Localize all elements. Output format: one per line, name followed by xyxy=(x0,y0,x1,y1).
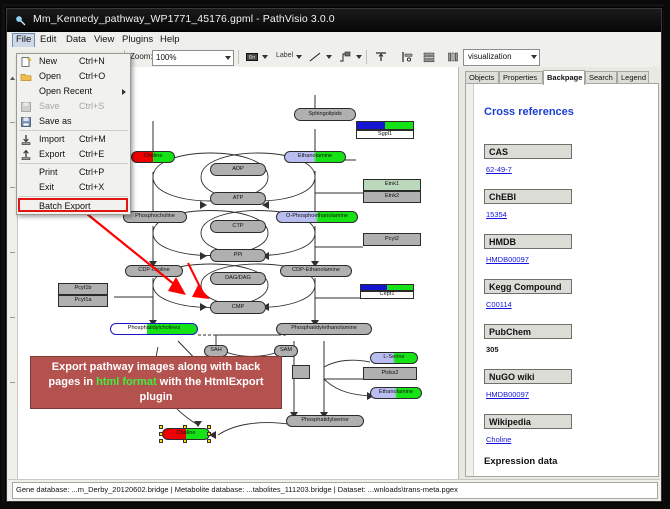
xref-value-wikipedia[interactable]: Choline xyxy=(486,435,511,444)
zoom-combobox[interactable]: 100% xyxy=(152,50,234,66)
menu-item-print-label: Print xyxy=(39,167,58,177)
menu-view[interactable]: View xyxy=(90,33,118,46)
pathvisio-app-icon xyxy=(15,14,27,26)
xref-header-kegg-compound: Kegg Compound xyxy=(484,279,572,294)
backpage-inner: Cross references CAS 62-49-7 ChEBI 15354… xyxy=(475,84,658,476)
menu-item-save-as-label: Save as xyxy=(39,116,72,126)
menu-item-import[interactable]: Import Ctrl+M xyxy=(17,132,130,147)
menu-item-exit-label: Exit xyxy=(39,182,54,192)
backpage-content: Cross references CAS 62-49-7 ChEBI 15354… xyxy=(465,83,659,477)
new-document-icon xyxy=(20,55,32,67)
xref-header-cas: CAS xyxy=(484,144,572,159)
menu-separator-1 xyxy=(19,130,128,131)
chevron-down-icon xyxy=(225,56,231,60)
zoom-value: 100% xyxy=(156,53,176,62)
callout-text-after: with the HtmlExport plugin xyxy=(140,376,264,403)
menu-item-export-label: Export xyxy=(39,149,65,159)
save-as-icon xyxy=(20,115,32,127)
menu-help[interactable]: Help xyxy=(156,33,184,46)
xref-value-cas[interactable]: 62-49-7 xyxy=(486,165,512,174)
interaction-dropdown-arrow[interactable] xyxy=(356,55,362,59)
side-panel: Objects Properties Backpage Search Legen… xyxy=(459,67,660,479)
chevron-right-icon xyxy=(122,89,126,95)
open-folder-icon xyxy=(20,70,32,82)
xref-header-nugo-wiki: NuGO wiki xyxy=(484,369,572,384)
menu-separator-3 xyxy=(19,196,128,197)
pathway-anchor-box[interactable] xyxy=(292,365,310,379)
cross-references-title: Cross references xyxy=(484,106,574,118)
toolbar-separator-2 xyxy=(238,50,239,64)
file-menu-dropdown: New Ctrl+N Open Ctrl+O Open Recent Save … xyxy=(16,53,131,215)
align-top-icon[interactable] xyxy=(374,50,388,64)
menu-item-save-label: Save xyxy=(39,101,60,111)
visualization-value: visualization xyxy=(468,52,512,61)
menu-item-open-accel: Ctrl+O xyxy=(79,71,105,81)
svg-text:Gn: Gn xyxy=(249,55,256,61)
menu-item-print-accel: Ctrl+P xyxy=(79,167,104,177)
menu-item-save: Save Ctrl+S xyxy=(17,99,130,114)
callout-highlight-text: html format xyxy=(96,376,157,388)
xref-value-pubchem: 305 xyxy=(486,345,499,354)
annotation-callout: Export pathway images along with back pa… xyxy=(30,356,282,409)
xref-header-pubchem: PubChem xyxy=(484,324,572,339)
toolbar-separator-3 xyxy=(366,50,367,64)
expression-data-title: Expression data xyxy=(484,456,557,467)
menu-bar: File Edit Data View Plugins Help xyxy=(8,32,660,48)
export-icon xyxy=(20,148,32,160)
tab-backpage[interactable]: Backpage xyxy=(543,70,585,85)
backpage-scrollbar[interactable] xyxy=(466,84,474,476)
menu-item-new[interactable]: New Ctrl+N xyxy=(17,54,130,69)
line-dropdown-arrow[interactable] xyxy=(326,55,332,59)
xref-value-chebi[interactable]: 15354 xyxy=(486,210,507,219)
menu-item-exit-accel: Ctrl+X xyxy=(79,182,104,192)
align-middle-icon[interactable] xyxy=(446,50,460,64)
menu-item-export-accel: Ctrl+E xyxy=(79,149,104,159)
menu-plugins[interactable]: Plugins xyxy=(118,33,157,46)
menu-item-export[interactable]: Export Ctrl+E xyxy=(17,147,130,162)
side-panel-tabs: Objects Properties Backpage Search Legen… xyxy=(465,70,660,84)
status-bar-text: Gene database: ...m_Derby_20120602.bridg… xyxy=(16,485,458,494)
align-left-icon[interactable] xyxy=(400,50,414,64)
menu-item-open-recent-label: Open Recent xyxy=(39,86,92,96)
zoom-label: Zoom: xyxy=(130,52,153,61)
visualization-dropdown-arrow xyxy=(531,55,537,59)
menu-file[interactable]: File xyxy=(12,33,35,48)
line-icon[interactable] xyxy=(308,50,322,64)
save-disk-icon xyxy=(20,100,32,112)
xref-header-chebi: ChEBI xyxy=(484,189,572,204)
status-bar: Gene database: ...m_Derby_20120602.bridg… xyxy=(8,479,660,500)
menu-item-batch-export-label: Batch Export xyxy=(39,201,91,211)
window-title: Mm_Kennedy_pathway_WP1771_45176.gpml - P… xyxy=(33,13,335,25)
menu-item-open-label: Open xyxy=(39,71,61,81)
menu-item-exit[interactable]: Exit Ctrl+X xyxy=(17,180,130,195)
status-bar-box: Gene database: ...m_Derby_20120602.bridg… xyxy=(12,482,658,499)
screenshot-root: Mm_Kennedy_pathway_WP1771_45176.gpml - P… xyxy=(0,0,670,509)
xref-header-hmdb: HMDB xyxy=(484,234,572,249)
menu-item-print[interactable]: Print Ctrl+P xyxy=(17,165,130,180)
import-icon xyxy=(20,133,32,145)
label-dropdown-arrow[interactable] xyxy=(296,55,302,59)
gene-product-icon[interactable]: Gn xyxy=(245,50,259,64)
menu-item-open-recent[interactable]: Open Recent xyxy=(17,84,130,99)
menu-item-batch-export[interactable]: Batch Export xyxy=(17,198,130,214)
xref-value-hmdb[interactable]: HMDB00097 xyxy=(486,255,529,264)
align-center-icon[interactable] xyxy=(422,50,436,64)
menu-item-import-accel: Ctrl+M xyxy=(79,134,106,144)
xref-header-wikipedia: Wikipedia xyxy=(484,414,572,429)
menu-item-open[interactable]: Open Ctrl+O xyxy=(17,69,130,84)
label-tool-label[interactable]: Label xyxy=(276,52,293,59)
menu-item-import-label: Import xyxy=(39,134,65,144)
menu-item-save-accel: Ctrl+S xyxy=(79,101,104,111)
menu-item-save-as[interactable]: Save as xyxy=(17,114,130,129)
application-window: Mm_Kennedy_pathway_WP1771_45176.gpml - P… xyxy=(6,8,662,502)
title-bar: Mm_Kennedy_pathway_WP1771_45176.gpml - P… xyxy=(7,9,661,32)
xref-value-kegg-compound[interactable]: C00114 xyxy=(486,300,512,309)
menu-item-new-label: New xyxy=(39,56,57,66)
visualization-combobox[interactable]: visualization xyxy=(463,49,540,66)
interaction-icon[interactable] xyxy=(338,50,352,64)
menu-item-new-accel: Ctrl+N xyxy=(79,56,105,66)
menu-edit[interactable]: Edit xyxy=(36,33,60,46)
menu-separator-2 xyxy=(19,163,128,164)
gene-product-dropdown-arrow[interactable] xyxy=(262,55,268,59)
menu-data[interactable]: Data xyxy=(62,33,90,46)
xref-value-nugo-wiki[interactable]: HMDB00097 xyxy=(486,390,529,399)
